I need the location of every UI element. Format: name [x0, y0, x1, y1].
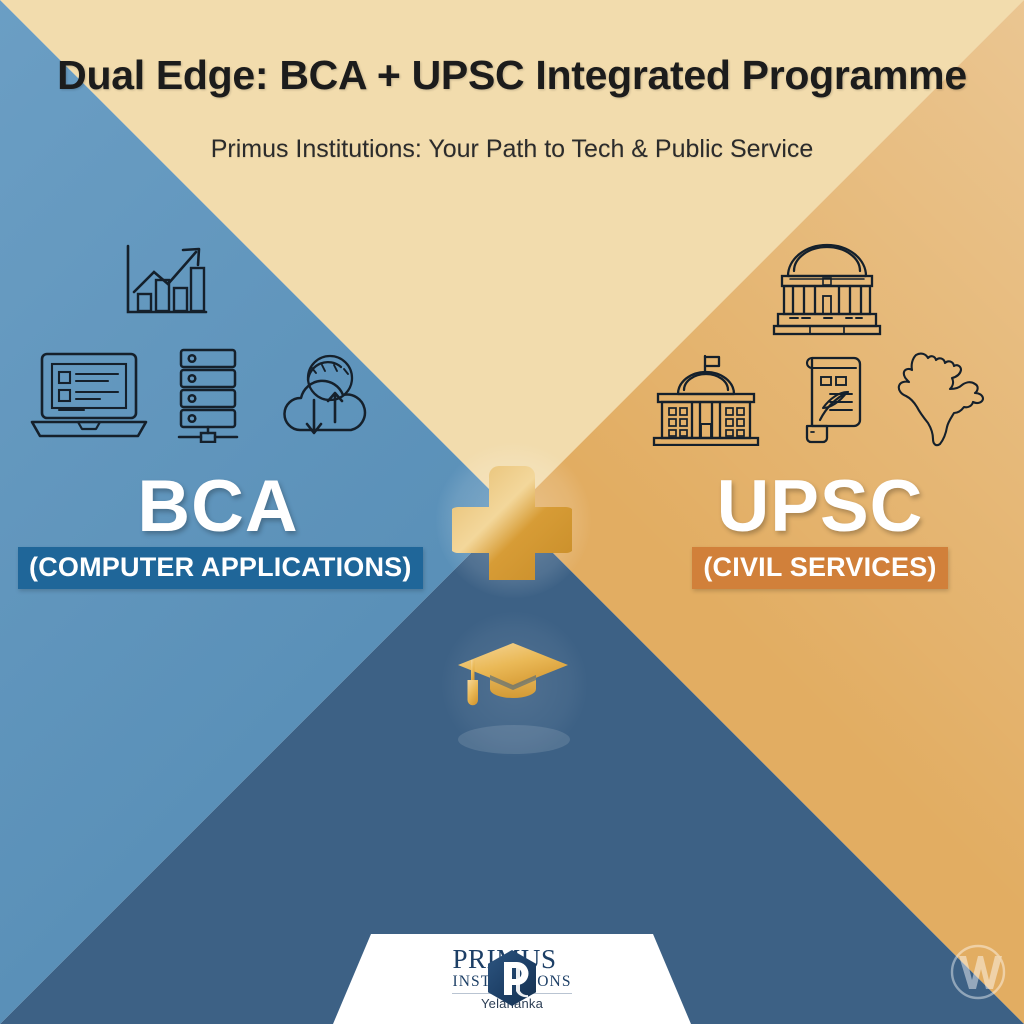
india-map-icon	[890, 349, 994, 449]
graduation-cap-icon	[452, 635, 574, 723]
upsc-title: UPSC	[620, 472, 1020, 541]
government-building-icon	[650, 352, 762, 446]
title-block: Dual Edge: BCA + UPSC Integrated Program…	[0, 52, 1024, 164]
logo-row: PRIMUS INSTITUTIONS Yelahanka	[333, 946, 691, 1010]
bca-subtitle: (COMPUTER APPLICATIONS)	[18, 547, 423, 589]
bca-title: BCA	[18, 472, 418, 541]
parliament-dome-icon	[768, 238, 886, 338]
laptop-code-icon	[28, 350, 150, 442]
bca-stream-block: BCA (COMPUTER APPLICATIONS)	[18, 472, 418, 589]
upsc-stream-block: UPSC (CIVIL SERVICES)	[620, 472, 1020, 589]
upsc-subtitle: (CIVIL SERVICES)	[692, 547, 947, 589]
primus-hexagon-p-mark	[485, 949, 539, 1007]
growth-chart-icon	[120, 242, 212, 322]
plus-sign-icon	[452, 460, 572, 580]
page-subtitle: Primus Institutions: Your Path to Tech &…	[0, 99, 1024, 164]
upsc-icon-cluster	[640, 232, 1020, 452]
book-quill-icon	[800, 350, 866, 444]
watermark-logo-icon	[949, 943, 1007, 1001]
logo-card: PRIMUS INSTITUTIONS Yelahanka	[333, 934, 691, 1024]
server-stack-icon	[175, 347, 241, 443]
graduation-cap-shadow	[458, 725, 570, 754]
bca-icon-cluster	[10, 232, 390, 452]
poster-canvas: Dual Edge: BCA + UPSC Integrated Program…	[0, 0, 1024, 1024]
page-title: Dual Edge: BCA + UPSC Integrated Program…	[0, 52, 1024, 99]
cloud-sync-icon	[278, 350, 374, 444]
